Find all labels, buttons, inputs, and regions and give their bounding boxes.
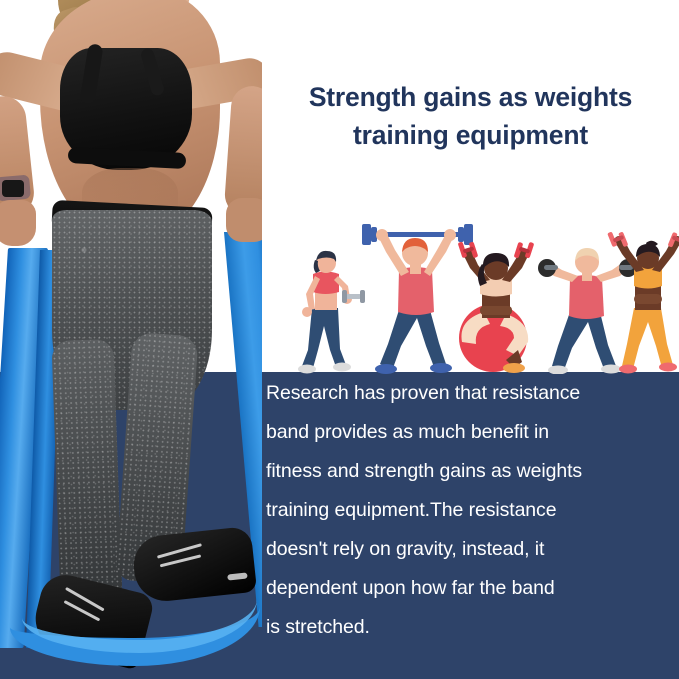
athlete-photo [0,0,262,679]
left-hand-gripping-band [0,200,36,246]
body-line-7: is stretched. [266,608,674,647]
body-line-5: doesn't rely on gravity, instead, it [266,530,674,569]
body-line-4: training equipment.The resistance [266,491,674,530]
body-line-2: band provides as much benefit in [266,413,674,452]
figure-woman-dumbbell-overhead-raise [602,232,679,374]
body-line-6: dependent upon how far the band [266,569,674,608]
body-paragraph: Research has proven that resistance band… [266,374,674,647]
headline-line-2: training equipment [262,116,679,154]
smartwatch-face [2,180,24,197]
left-leg-legging [51,339,122,603]
product-infographic: Strength gains as weights training equip… [0,0,679,679]
headline-line-1: Strength gains as weights [262,78,679,116]
body-line-3: fitness and strength gains as weights [266,452,674,491]
body-line-1: Research has proven that resistance [266,374,674,413]
right-hand-gripping-band [226,198,262,242]
headline: Strength gains as weights training equip… [262,78,679,154]
exercise-illustration-row [278,222,676,374]
